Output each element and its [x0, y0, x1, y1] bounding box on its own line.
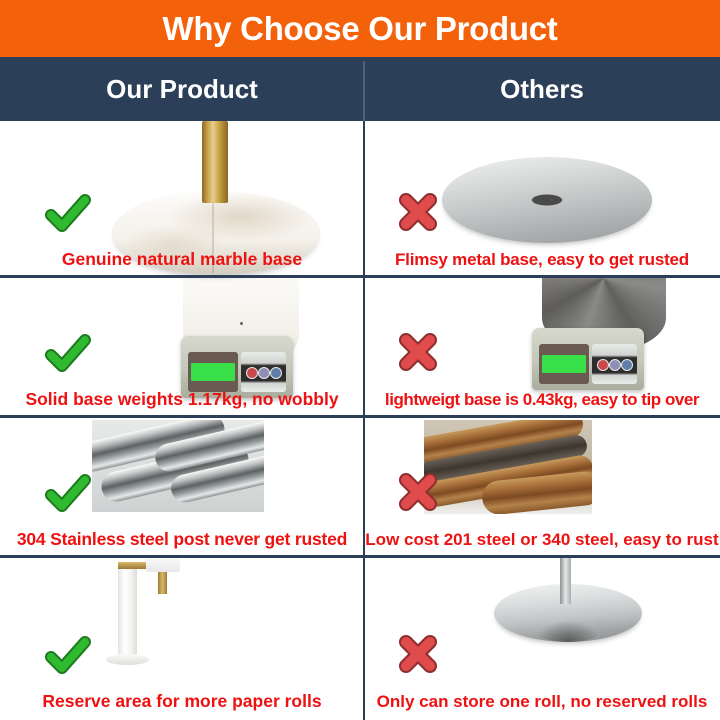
caption-our-product: Reserve area for more paper rolls: [0, 693, 364, 711]
column-header-others: Others: [364, 57, 720, 121]
column-divider: [363, 278, 365, 418]
cell-our-product: Genuine natural marble base: [0, 121, 364, 278]
rusted-tubes-image: [424, 420, 592, 514]
column-divider: [363, 418, 365, 558]
marble-column-image: [118, 566, 137, 658]
comparison-row: Genuine natural marble base Flimsy metal…: [0, 121, 720, 278]
caption-others: Only can store one roll, no reserved rol…: [364, 693, 720, 710]
cell-our-product: Reserve area for more paper rolls: [0, 558, 364, 720]
cell-others: Flimsy metal base, easy to get rusted: [364, 121, 720, 278]
row-divider: [0, 415, 720, 418]
comparison-row: 304 Stainless steel post never get ruste…: [0, 418, 720, 558]
banner: Why Choose Our Product: [0, 0, 720, 57]
cross-mark-icon: [394, 190, 442, 234]
scale-buttons: [241, 352, 286, 392]
column-divider: [363, 558, 365, 720]
kitchen-scale-image: [532, 328, 644, 390]
metal-base-image: [442, 157, 652, 243]
holder-foot-image: [106, 654, 149, 665]
cell-others: lightweigt base is 0.43kg, easy to tip o…: [364, 278, 720, 418]
paper-roll-image: [146, 556, 180, 572]
check-mark-icon: [44, 192, 92, 236]
comparison-row: Reserve area for more paper rolls Only c…: [0, 558, 720, 720]
column-header-others-label: Others: [500, 76, 584, 102]
cell-our-product: Solid base weights 1.17kg, no wobbly: [0, 278, 364, 418]
column-header-our-product: Our Product: [0, 57, 364, 121]
caption-others: lightweigt base is 0.43kg, easy to tip o…: [364, 391, 720, 408]
caption-our-product: Solid base weights 1.17kg, no wobbly: [0, 391, 364, 409]
cell-others: Low cost 201 steel or 340 steel, easy to…: [364, 418, 720, 558]
cell-our-product: 304 Stainless steel post never get ruste…: [0, 418, 364, 558]
caption-our-product: 304 Stainless steel post never get ruste…: [0, 531, 364, 549]
brass-post-image: [202, 121, 228, 203]
check-mark-icon: [44, 332, 92, 376]
page-title: Why Choose Our Product: [163, 12, 558, 45]
comparison-infographic: Why Choose Our Product Our Product Other…: [0, 0, 720, 720]
row-divider: [0, 555, 720, 558]
comparison-grid: Genuine natural marble base Flimsy metal…: [0, 121, 720, 720]
check-mark-icon: [44, 634, 92, 678]
scale-buttons: [592, 344, 637, 384]
cross-mark-icon: [394, 470, 442, 514]
cross-mark-icon: [394, 330, 442, 374]
column-header-divider: [363, 61, 365, 121]
scale-display: [188, 352, 238, 392]
column-divider: [363, 121, 365, 278]
stainless-tubes-image: [92, 420, 264, 512]
check-mark-icon: [44, 472, 92, 516]
caption-others: Flimsy metal base, easy to get rusted: [364, 251, 720, 268]
column-header-bar: Our Product Others: [0, 57, 720, 121]
column-header-our-product-label: Our Product: [106, 76, 258, 102]
row-divider: [0, 275, 720, 278]
caption-others: Low cost 201 steel or 340 steel, easy to…: [364, 531, 720, 548]
caption-our-product: Genuine natural marble base: [0, 251, 364, 269]
cell-others: Only can store one roll, no reserved rol…: [364, 558, 720, 720]
cross-mark-icon: [394, 632, 442, 676]
metal-post-image: [560, 558, 571, 604]
comparison-row: Solid base weights 1.17kg, no wobbly lig…: [0, 278, 720, 418]
scale-display: [539, 344, 589, 384]
